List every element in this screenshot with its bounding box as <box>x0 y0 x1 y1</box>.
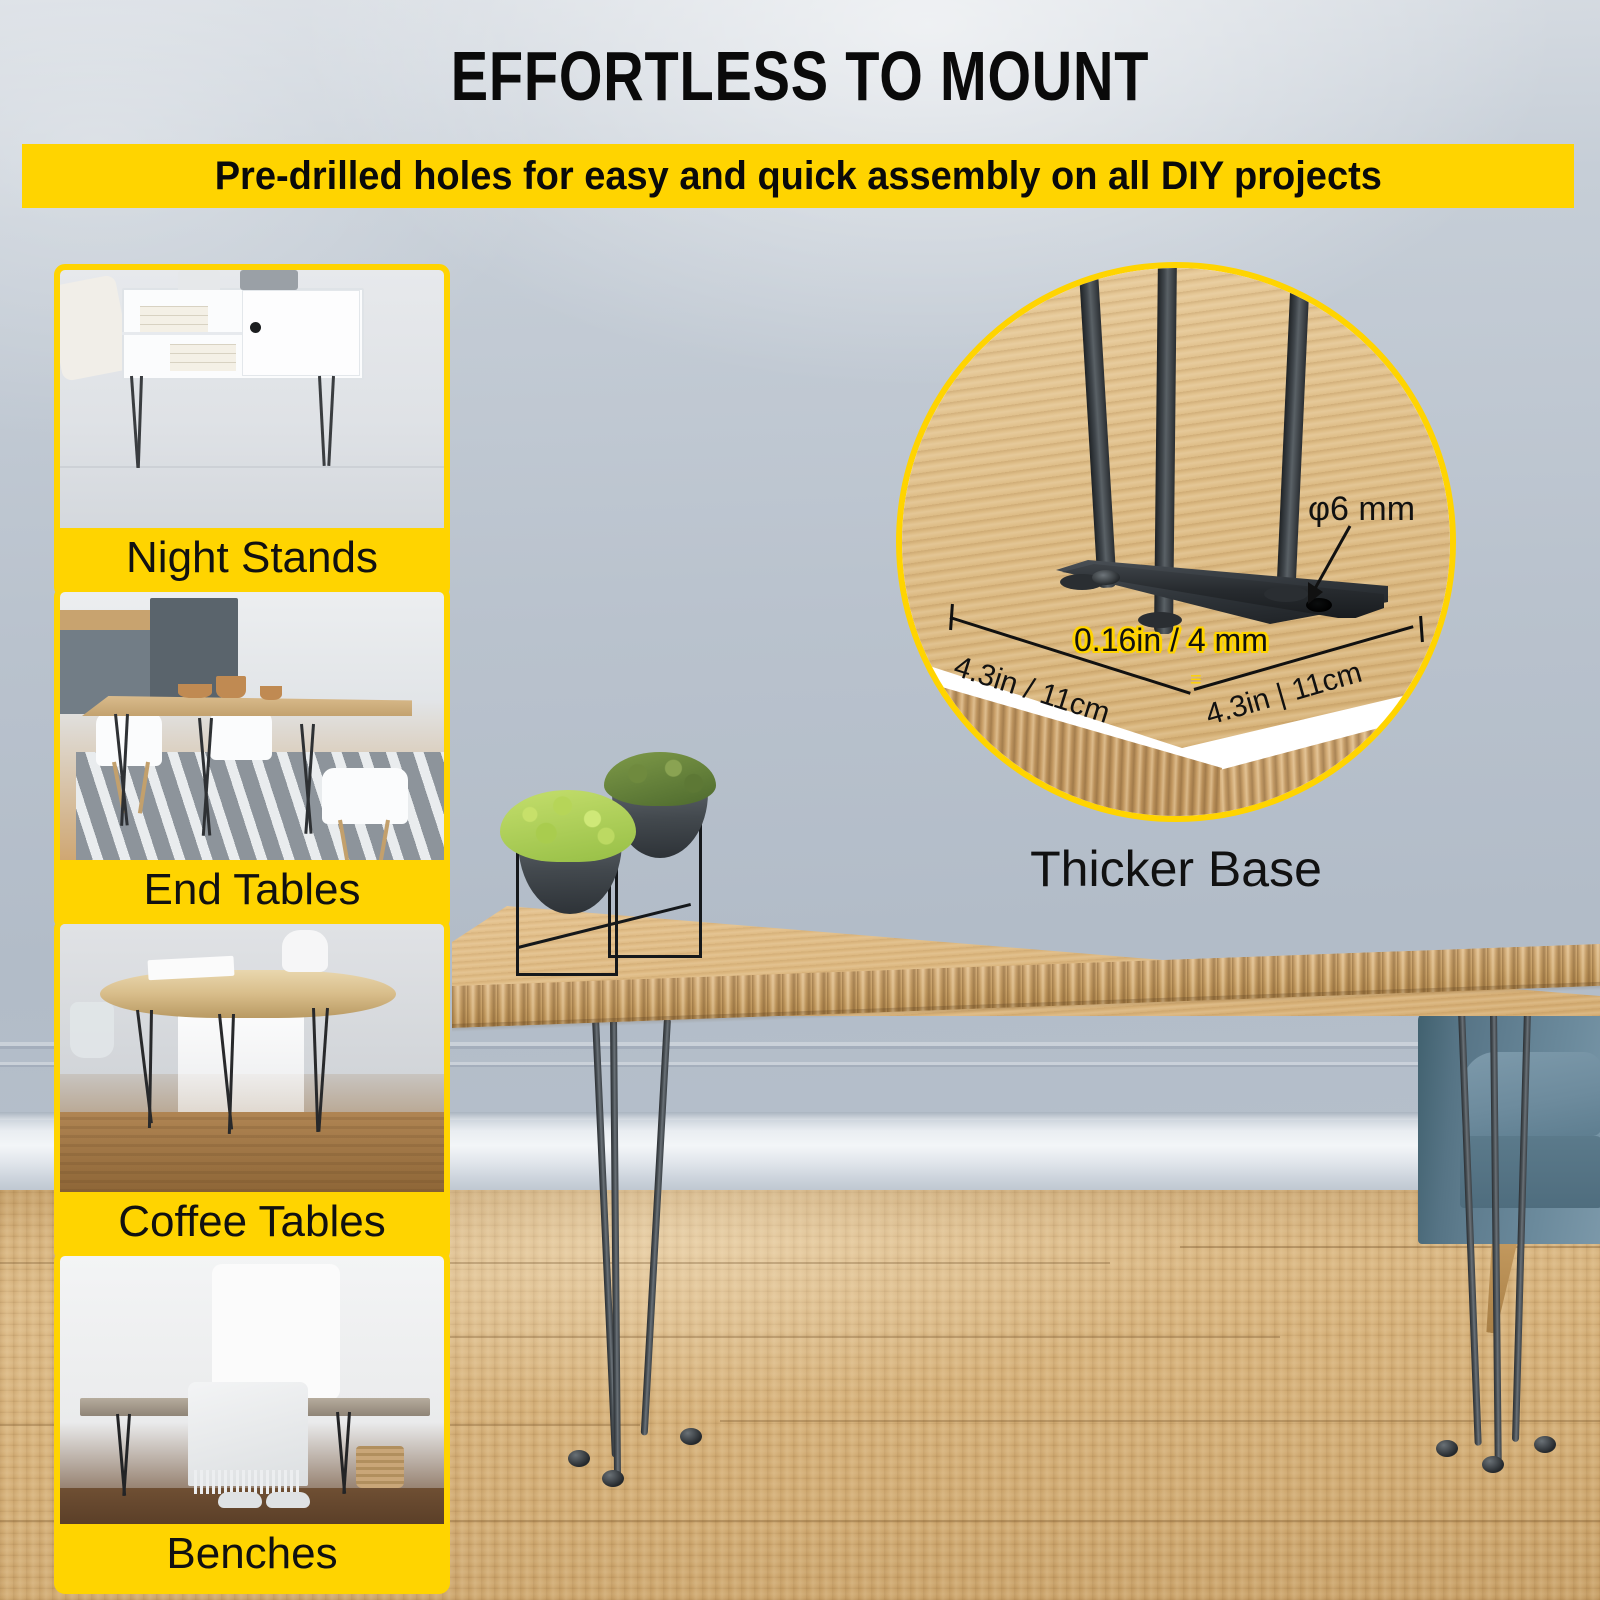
mug <box>260 686 282 700</box>
base-detail-callout: 4.3in / 11cm 4.3in | 11cm 0.16in / 4 mm … <box>896 262 1456 822</box>
book-stack <box>170 362 236 371</box>
pillow <box>212 1264 340 1400</box>
use-case-card-benches[interactable]: Benches <box>54 1250 450 1594</box>
page-title: EFFORTLESS TO MOUNT <box>160 36 1440 116</box>
use-case-label: Coffee Tables <box>60 1192 444 1256</box>
plate-thickness-label: 0.16in / 4 mm <box>1074 622 1268 659</box>
hairpin-leg <box>342 1412 351 1494</box>
sofa-back-cushion <box>1462 1052 1600 1136</box>
woven-basket <box>356 1446 404 1488</box>
callout-caption: Thicker Base <box>896 840 1456 898</box>
book-stack <box>140 315 208 324</box>
bench-thumbnail <box>60 1256 444 1524</box>
live-edge-table-thumbnail <box>60 924 444 1192</box>
sofa-arm <box>1418 1012 1464 1244</box>
live-edge-slab-top <box>100 970 396 1018</box>
product-infographic: EFFORTLESS TO MOUNT Pre-drilled holes fo… <box>0 0 1600 1600</box>
screw-head-icon <box>1092 570 1120 585</box>
hairpin-leg-foot <box>602 1470 624 1487</box>
copper-basket <box>216 676 246 698</box>
basket <box>240 270 298 290</box>
hairpin-leg-foot <box>1482 1456 1504 1473</box>
thickness-indicator-icon: ≡ <box>1190 670 1202 690</box>
hairpin-leg <box>122 1414 131 1496</box>
dining-table-thumbnail <box>60 592 444 860</box>
book-stack <box>170 353 236 362</box>
cabinet-divider <box>122 332 244 335</box>
book-stack <box>170 344 236 353</box>
use-case-label: End Tables <box>60 860 444 924</box>
floor-plank-seam <box>1180 1246 1600 1248</box>
table-top <box>82 696 412 716</box>
glass-jar <box>70 1002 114 1058</box>
table-lamp <box>282 930 328 972</box>
subtitle-text: Pre-drilled holes for easy and quick ass… <box>214 154 1381 199</box>
floor-plank-seam <box>720 1420 1600 1422</box>
cabinet-knob-icon <box>250 322 261 333</box>
hairpin-leg <box>137 376 143 468</box>
hairpin-leg-foot <box>568 1450 590 1467</box>
dining-chair <box>96 712 162 766</box>
wood-floor <box>60 1112 444 1192</box>
use-case-label: Night Stands <box>60 528 444 592</box>
use-case-card-night-stands[interactable]: Night Stands <box>54 264 450 598</box>
sofa-seat-cushion <box>1460 1136 1600 1208</box>
use-case-label: Benches <box>60 1524 444 1588</box>
use-case-card-end-tables[interactable]: End Tables <box>54 586 450 930</box>
use-case-card-coffee-tables[interactable]: Coffee Tables <box>54 918 450 1262</box>
hairpin-leg <box>318 376 326 466</box>
floor-line <box>60 466 444 468</box>
vase <box>178 270 220 290</box>
wooden-bowl <box>178 684 212 698</box>
nightstand-thumbnail <box>60 270 444 528</box>
hairpin-leg-foot <box>680 1428 702 1445</box>
book-stack <box>140 324 208 332</box>
book-stack <box>140 306 208 315</box>
hairpin-leg-foot <box>1534 1436 1556 1453</box>
slipper <box>218 1492 262 1508</box>
hairpin-leg-foot <box>1436 1440 1458 1457</box>
blanket-fringe <box>194 1470 300 1494</box>
dining-chair <box>210 710 272 760</box>
slipper <box>266 1492 310 1508</box>
curtain <box>178 1008 304 1112</box>
hole-diameter-arrow-icon <box>1288 520 1368 610</box>
hairpin-leg <box>327 376 335 466</box>
dining-chair <box>322 768 408 824</box>
cabinet-door <box>242 290 360 376</box>
subtitle-banner: Pre-drilled holes for easy and quick ass… <box>22 144 1574 208</box>
